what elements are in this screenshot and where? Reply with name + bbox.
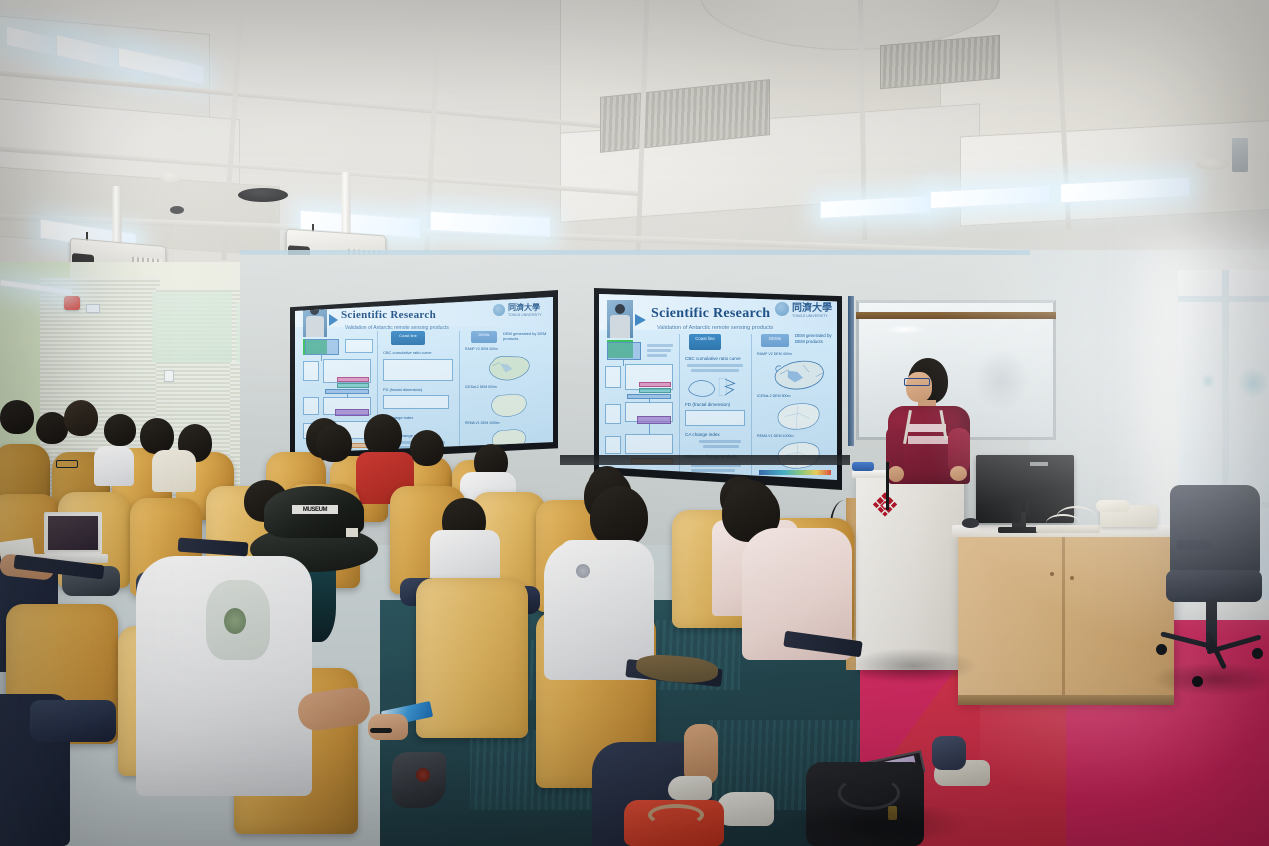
armrest-bolt bbox=[416, 768, 430, 782]
flow-connector bbox=[321, 353, 322, 361]
ceiling-sensor bbox=[170, 206, 184, 214]
telephone-handset[interactable] bbox=[1096, 500, 1130, 512]
desk-cable bbox=[1046, 514, 1080, 532]
seat-cushion[interactable] bbox=[30, 700, 116, 742]
slide-column-divider bbox=[459, 331, 460, 451]
microphone-cable bbox=[886, 462, 889, 510]
mouse[interactable] bbox=[962, 518, 979, 528]
hat-text-value: MUSEUM bbox=[303, 507, 327, 513]
slide-arrow-icon bbox=[329, 314, 338, 326]
wall-panel-mint bbox=[152, 292, 232, 362]
slide-text-line bbox=[647, 349, 671, 352]
slide-text-line bbox=[647, 344, 673, 347]
podium-shadow bbox=[848, 648, 978, 684]
slide-university-logo: 同濟大學 TONGJI UNIVERSITY bbox=[775, 299, 832, 318]
whiteboard-glare bbox=[885, 325, 925, 334]
shoe bbox=[668, 776, 712, 800]
slide-color-ramp bbox=[759, 470, 831, 475]
flow-connector bbox=[649, 399, 650, 403]
photo-head bbox=[310, 306, 319, 315]
flow-connector bbox=[347, 394, 348, 398]
cabinet-lock[interactable] bbox=[1070, 576, 1074, 580]
speaker-module bbox=[1012, 497, 1021, 523]
bag-shadow bbox=[780, 800, 970, 846]
hat-logo-text: MUSEUM bbox=[292, 505, 338, 514]
window-decal-icon bbox=[1200, 374, 1216, 388]
presenter bbox=[886, 358, 972, 484]
slide-presenter-photo bbox=[607, 300, 633, 338]
slide-arrow-icon bbox=[635, 314, 646, 326]
projector-mount-pole bbox=[341, 172, 350, 234]
slide-text-line bbox=[691, 469, 735, 472]
flow-box bbox=[625, 434, 673, 454]
audience-head bbox=[364, 414, 402, 456]
slide-dem-note: DEM generated by DEM products bbox=[795, 333, 837, 344]
chair-caster bbox=[1156, 644, 1167, 655]
flow-box bbox=[607, 342, 641, 360]
slide-section-label: FD (fractal dimension) bbox=[383, 387, 422, 392]
wrist-band bbox=[370, 728, 392, 733]
university-seal-icon bbox=[775, 302, 789, 316]
flow-box bbox=[639, 388, 671, 393]
shirt-print-graphic bbox=[224, 608, 246, 634]
lectern-podium bbox=[856, 474, 964, 670]
ceiling-tile bbox=[960, 120, 1269, 227]
flow-box bbox=[335, 409, 369, 416]
university-name-cn: 同濟大學 bbox=[792, 299, 832, 314]
slide-university-logo: 同濟大學 TONGJI UNIVERSITY bbox=[493, 302, 542, 317]
fire-alarm-icon bbox=[64, 296, 80, 310]
screen-shadow-band bbox=[560, 455, 850, 465]
slide-formula bbox=[383, 395, 449, 409]
slide-column-header-dems: DEMs bbox=[471, 331, 497, 343]
presenter-face bbox=[906, 372, 932, 402]
flow-connector bbox=[649, 424, 650, 434]
presenter-left-hand bbox=[888, 466, 904, 482]
smartphone-in-hand[interactable] bbox=[368, 706, 432, 740]
slide-section-label: CBC cumulative ratio curve bbox=[383, 350, 431, 355]
photo-body bbox=[306, 316, 324, 337]
chair-shadow bbox=[1150, 662, 1269, 696]
eyeglasses-icon bbox=[56, 460, 78, 468]
slide-section-label: FD (fractal dimension) bbox=[685, 402, 730, 407]
ceiling-speaker bbox=[1196, 158, 1230, 170]
antarctica-map bbox=[481, 351, 537, 385]
slide-column-header-coastline: Coast line bbox=[391, 331, 425, 345]
audience-head bbox=[104, 414, 136, 446]
chair-caster bbox=[1252, 648, 1263, 659]
slide-text-line bbox=[687, 364, 743, 367]
flow-box bbox=[303, 397, 319, 415]
flow-box bbox=[337, 383, 369, 388]
eyeglasses-icon bbox=[904, 378, 930, 386]
flow-box bbox=[303, 361, 319, 381]
slide-figure bbox=[383, 359, 453, 381]
slide-title: Scientific Research bbox=[651, 306, 770, 322]
flow-connector bbox=[623, 360, 624, 366]
university-name-en: TONGJI UNIVERSITY bbox=[792, 314, 832, 318]
laptop-screen-content bbox=[48, 516, 98, 550]
projection-screen-right: Scientific Research Validation of Antarc… bbox=[599, 294, 837, 480]
tshirt-text-line1 bbox=[908, 424, 946, 432]
office-chair-back[interactable] bbox=[1170, 485, 1260, 575]
av-cabinet bbox=[958, 533, 1174, 703]
flow-box bbox=[345, 339, 373, 353]
audience-head bbox=[590, 486, 648, 548]
whiteboard-marker-tray bbox=[856, 312, 1056, 319]
audience-head bbox=[316, 424, 352, 462]
slide-text-line bbox=[647, 354, 667, 357]
shirt-crest-icon bbox=[576, 564, 590, 578]
audience-shirt-white bbox=[94, 446, 134, 486]
audience-head bbox=[64, 400, 98, 436]
slide-column-header-coastline: Coast line bbox=[689, 334, 721, 350]
slide-subtitle: Validation of Antarctic remote sensing p… bbox=[657, 325, 773, 331]
lecture-seat[interactable] bbox=[416, 578, 528, 738]
flow-box bbox=[605, 366, 621, 388]
podium-clip bbox=[852, 462, 874, 471]
presenter-right-hand bbox=[950, 466, 967, 481]
slide-column-header-dems: DEMs bbox=[761, 334, 789, 347]
flow-box bbox=[305, 339, 339, 355]
wall-sign bbox=[86, 304, 100, 313]
antarctica-map bbox=[769, 398, 827, 436]
slide-text-line bbox=[703, 445, 739, 448]
slide-formula bbox=[685, 410, 745, 426]
backpack-strap bbox=[648, 804, 704, 826]
slide-coastline-figure bbox=[685, 374, 747, 400]
slide-dem-note: DEM generated by DEM products bbox=[503, 331, 549, 341]
whiteboard-smudge bbox=[975, 350, 1029, 410]
shoe bbox=[716, 792, 774, 826]
audience-head bbox=[140, 418, 174, 454]
lecture-hall-photo: Scientific Research Validation of Antarc… bbox=[0, 0, 1269, 846]
ceiling-speaker bbox=[160, 172, 182, 182]
slide-presenter-photo bbox=[303, 303, 327, 337]
photo-head bbox=[615, 304, 625, 314]
window-decal-icon bbox=[1236, 368, 1269, 398]
wall-bracket bbox=[1232, 138, 1248, 172]
audience-leg bbox=[932, 736, 966, 770]
antarctica-map bbox=[483, 389, 535, 421]
cabinet-door-seam bbox=[1062, 537, 1065, 697]
projector-mount-pole bbox=[113, 186, 122, 244]
door-frame-edge bbox=[848, 296, 854, 446]
antarctica-map bbox=[767, 356, 831, 396]
wall-switch bbox=[164, 370, 174, 382]
polyu-logo-icon bbox=[870, 490, 900, 520]
flow-box bbox=[639, 382, 671, 387]
slide-text-line bbox=[699, 440, 741, 443]
slide-section-label: CA change index bbox=[685, 432, 720, 437]
slide-text-line bbox=[691, 369, 739, 372]
window-mullion bbox=[1178, 296, 1269, 302]
flow-box bbox=[637, 416, 671, 424]
flow-box bbox=[605, 404, 621, 424]
university-name-en: TONGJI UNIVERSITY bbox=[508, 313, 542, 317]
hat-tag bbox=[346, 528, 358, 537]
office-chair-armrest[interactable] bbox=[1176, 540, 1212, 550]
university-name-cn: 同濟大學 bbox=[508, 302, 542, 313]
cabinet-lock[interactable] bbox=[1050, 572, 1054, 576]
monitor-brand-label bbox=[1030, 462, 1048, 466]
slide-section-label: CBC cumulative ratio curve bbox=[685, 356, 741, 361]
university-seal-icon bbox=[493, 304, 505, 316]
audience-shirt bbox=[152, 450, 196, 492]
flow-box bbox=[337, 377, 369, 382]
photo-body bbox=[610, 315, 630, 338]
slide-title: Scientific Research bbox=[341, 309, 436, 321]
audience-head bbox=[410, 430, 444, 466]
audience-head bbox=[0, 400, 34, 434]
monitor-cable bbox=[1026, 494, 1044, 520]
flow-box bbox=[605, 436, 621, 454]
cabinet-kick-plate bbox=[958, 695, 1174, 705]
hand bbox=[368, 714, 408, 740]
